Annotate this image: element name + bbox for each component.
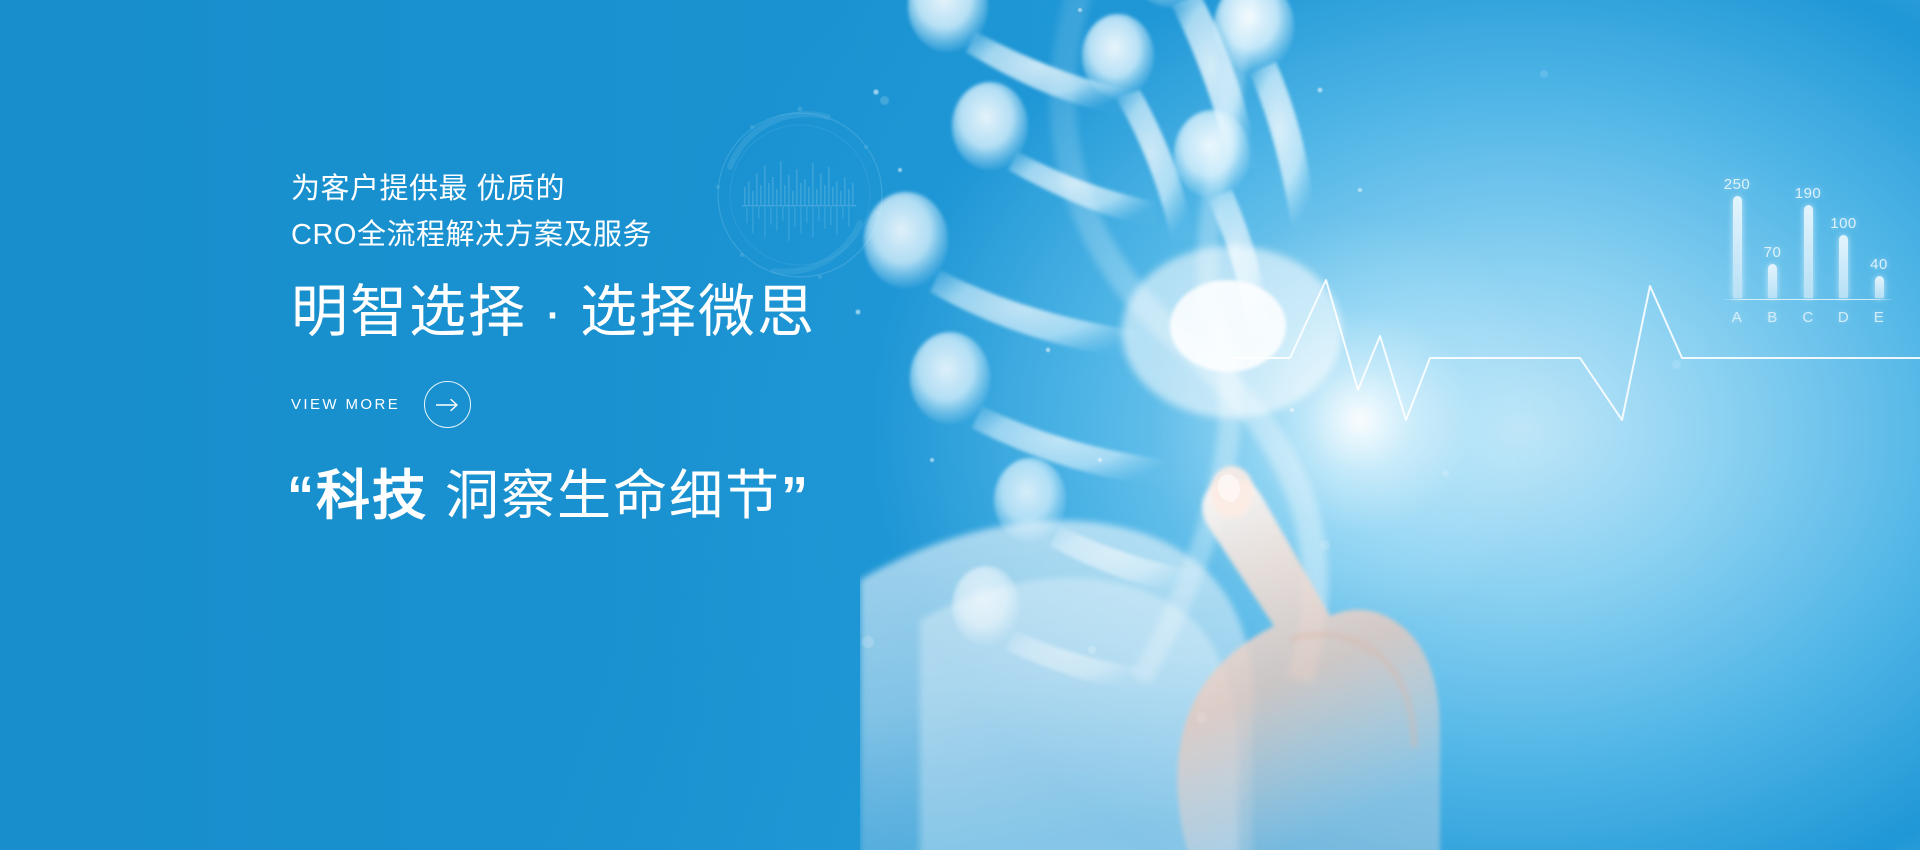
hero-headline-part1: 明智选择 — [291, 280, 527, 344]
bokeh-particle — [1088, 646, 1096, 654]
chart-value-d: 100 — [1830, 215, 1857, 232]
view-more-button[interactable]: VIEW MORE — [291, 381, 471, 428]
quote-close-mark: ” — [781, 466, 810, 526]
chart-value-e: 40 — [1870, 256, 1888, 273]
bokeh-particle — [1672, 360, 1681, 369]
bokeh-particle — [1320, 540, 1330, 550]
hero-headline-separator: · — [527, 280, 580, 344]
hero-content: 为客户提供最 优质的 CRO全流程解决方案及服务 明智选择·选择微思 VIEW … — [291, 0, 931, 850]
chart-bar-fill-a — [1733, 196, 1742, 298]
bokeh-particle — [1442, 470, 1449, 477]
chart-bar-c: 190 — [1797, 176, 1819, 298]
chart-category-d: D — [1833, 309, 1855, 326]
hero-subtitle: 为客户提供最 优质的 CRO全流程解决方案及服务 — [291, 166, 931, 258]
quote-open-mark: “ — [287, 466, 316, 526]
arrow-right-icon[interactable] — [424, 381, 471, 428]
bar-chart: 250 70 190 100 40 A B C — [1718, 152, 1898, 332]
hero-subtitle-line2: CRO全流程解决方案及服务 — [291, 212, 931, 258]
chart-category-c: C — [1797, 309, 1819, 326]
chart-category-labels: A B C D E — [1718, 309, 1898, 326]
chart-bar-d: 100 — [1833, 176, 1855, 298]
quote-rest-text: 洞察生命细节 — [428, 466, 781, 526]
hero-subtitle-line1: 为客户提供最 优质的 — [291, 173, 565, 205]
chart-plot-area: 250 70 190 100 40 — [1718, 176, 1898, 298]
chart-value-a: 250 — [1724, 176, 1751, 193]
chart-bar-b: 70 — [1762, 176, 1784, 298]
bokeh-particle — [1540, 70, 1548, 78]
quote-strong-text: 科技 — [316, 466, 428, 526]
chart-value-b: 70 — [1764, 244, 1782, 261]
hero-headline: 明智选择·选择微思 — [291, 276, 991, 348]
chart-bar-e: 40 — [1868, 176, 1890, 298]
hero-quote: “科技 洞察生命细节” — [287, 458, 987, 534]
hero-banner: 250 70 190 100 40 A B C — [0, 0, 1920, 850]
chart-category-e: E — [1868, 309, 1890, 326]
chart-x-axis — [1724, 299, 1892, 300]
chart-bar-fill-d — [1839, 235, 1848, 298]
view-more-label: VIEW MORE — [291, 396, 400, 413]
chart-bar-a: 250 — [1726, 176, 1748, 298]
chart-value-c: 190 — [1795, 185, 1822, 202]
hero-headline-part2: 选择微思 — [580, 280, 816, 344]
chart-bar-fill-e — [1875, 276, 1884, 298]
chart-bar-fill-b — [1768, 264, 1777, 298]
chart-category-b: B — [1762, 309, 1784, 326]
bokeh-particle — [1196, 712, 1207, 723]
chart-bar-fill-c — [1804, 205, 1813, 298]
chart-category-a: A — [1726, 309, 1748, 326]
